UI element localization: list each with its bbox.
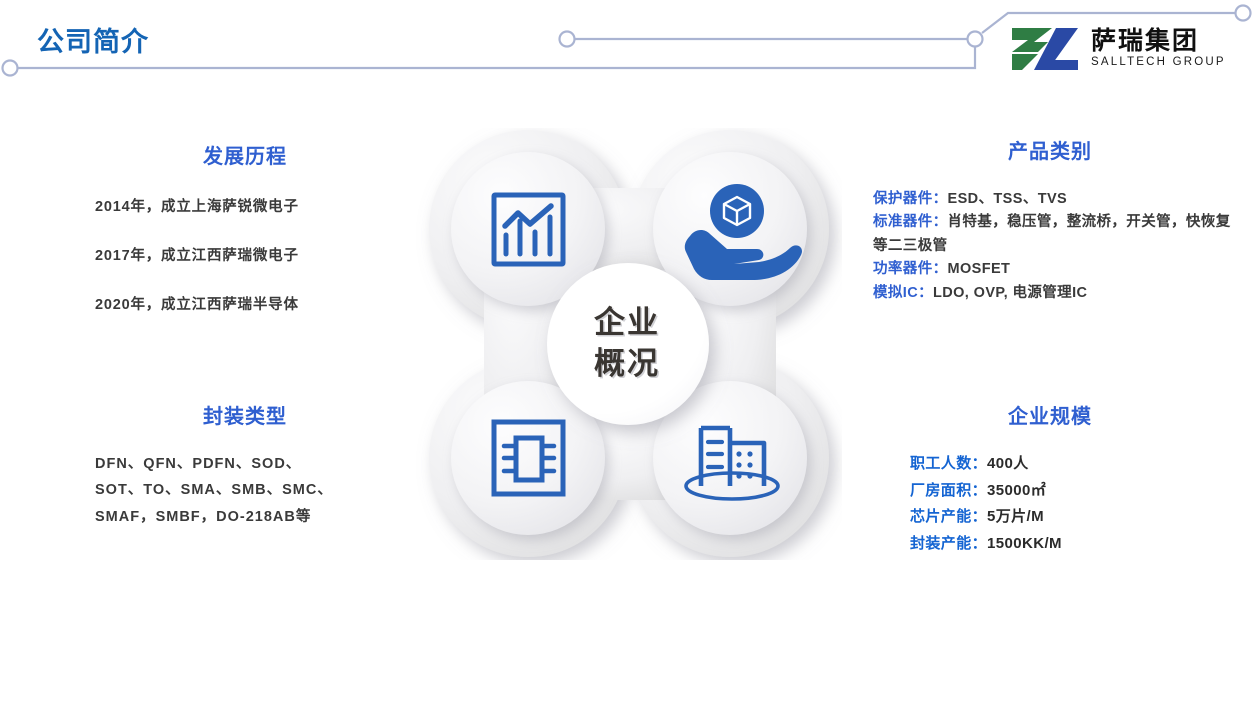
logo-name-cn: 萨瑞集团 — [1091, 28, 1226, 54]
product-row: 标准器件：肖特基，稳压管，整流桥，开关管，快恢复等二三极管 — [873, 211, 1245, 258]
history-item: 2020年，成立江西萨瑞半导体 — [70, 293, 420, 314]
package-body-text: DFN、QFN、PDFN、SOD、SOT、TO、SMA、SMB、SMC、SMAF… — [70, 451, 345, 530]
product-row: 功率器件：MOSFET — [873, 258, 1245, 281]
product-label: 模拟IC： — [873, 285, 933, 301]
scale-row: 厂房面积：35000㎡ — [910, 478, 1245, 505]
scale-value: 35000㎡ — [987, 482, 1046, 499]
section-history: 发展历程 2014年，成立上海萨锐微电子 2017年，成立江西萨瑞微电子 202… — [70, 140, 420, 342]
section-scale: 企业规模 职工人数：400人 厂房面积：35000㎡ 芯片产能：5万片/M 封装… — [855, 400, 1245, 558]
center-circle — [547, 263, 709, 425]
product-list: 保护器件：ESD、TSS、TVS 标准器件：肖特基，稳压管，整流桥，开关管，快恢… — [855, 188, 1245, 305]
page-header: 公司简介 萨瑞集团 SALLTECH GROUP — [0, 0, 1253, 95]
page-title: 公司简介 — [37, 20, 149, 59]
product-label: 保护器件： — [873, 191, 948, 207]
scale-value: 5万片/M — [987, 508, 1044, 525]
section-product: 产品类别 保护器件：ESD、TSS、TVS 标准器件：肖特基，稳压管，整流桥，开… — [855, 135, 1245, 305]
product-heading: 产品类别 — [855, 135, 1245, 164]
product-row: 模拟IC：LDO, OVP, 电源管理IC — [873, 282, 1245, 305]
product-row: 保护器件：ESD、TSS、TVS — [873, 188, 1245, 211]
scale-heading: 企业规模 — [855, 400, 1245, 429]
history-heading: 发展历程 — [70, 140, 420, 169]
history-item: 2017年，成立江西萨瑞微电子 — [70, 244, 420, 265]
scale-label: 封装产能： — [910, 535, 987, 552]
product-value: LDO, OVP, 电源管理IC — [933, 285, 1087, 301]
scale-row: 职工人数：400人 — [910, 451, 1245, 478]
product-value: MOSFET — [948, 261, 1011, 277]
center-diagram: 企业 概况 — [412, 128, 842, 560]
logo-text-block: 萨瑞集团 SALLTECH GROUP — [1091, 28, 1226, 70]
scale-value: 1500KK/M — [987, 535, 1062, 552]
history-item: 2014年，成立上海萨锐微电子 — [70, 195, 420, 216]
section-package: 封装类型 DFN、QFN、PDFN、SOD、SOT、TO、SMA、SMB、SMC… — [70, 400, 420, 530]
scale-list: 职工人数：400人 厂房面积：35000㎡ 芯片产能：5万片/M 封装产能：15… — [855, 451, 1245, 558]
product-label: 功率器件： — [873, 261, 948, 277]
product-label: 标准器件： — [873, 214, 948, 230]
logo-mark-icon — [1008, 24, 1082, 74]
scale-label: 芯片产能： — [910, 508, 987, 525]
company-logo: 萨瑞集团 SALLTECH GROUP — [1008, 18, 1244, 80]
scale-label: 职工人数： — [910, 455, 987, 472]
product-value: ESD、TSS、TVS — [948, 191, 1068, 207]
scale-row: 封装产能：1500KK/M — [910, 531, 1245, 558]
scale-value: 400人 — [987, 455, 1029, 472]
logo-name-en: SALLTECH GROUP — [1091, 56, 1226, 70]
scale-label: 厂房面积： — [910, 482, 987, 499]
package-heading: 封装类型 — [70, 400, 420, 429]
scale-row: 芯片产能：5万片/M — [910, 504, 1245, 531]
